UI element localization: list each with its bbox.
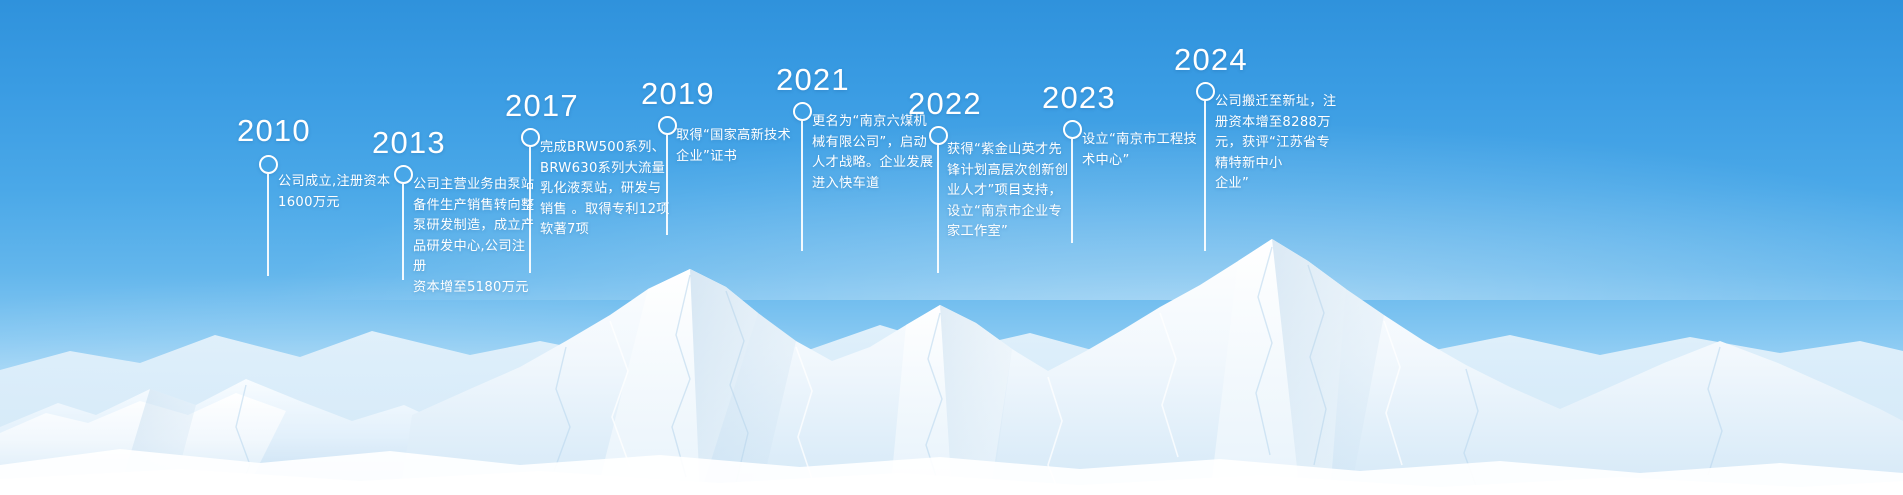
milestone-description-2022: 获得“紫金山英才先 锋计划高层次创新创 业人才”项目支持， 设立“南京市企业专 … [947, 140, 1079, 243]
milestone-dot-2017[interactable] [521, 128, 540, 147]
milestone-year-2022: 2022 [908, 88, 982, 119]
milestone-year-2013: 2013 [372, 127, 446, 158]
timeline-track: 2010 公司成立,注册资本 1600万元 2013 公司主营业务由泵站 备件生… [0, 0, 1903, 495]
milestone-dot-2013[interactable] [394, 165, 413, 184]
milestone-dot-2021[interactable] [793, 102, 812, 121]
milestone-description-2021: 更名为“南京六煤机 械有限公司”，启动 人才战略。企业发展 进入快车道 [812, 112, 944, 194]
milestone-dot-2024[interactable] [1196, 82, 1215, 101]
milestone-dot-2023[interactable] [1063, 120, 1082, 139]
milestone-description-2013: 公司主营业务由泵站 备件生产销售转向整 泵研发制造，成立产 品研发中心,公司注册… [413, 175, 537, 298]
milestone-year-2024: 2024 [1174, 44, 1248, 75]
milestone-stem-2019 [666, 135, 668, 235]
milestone-description-2024: 公司搬迁至新址，注 册资本增至8288万 元，获评“江苏省专 精特新中小 企业” [1215, 92, 1343, 195]
milestone-stem-2021 [801, 121, 803, 251]
milestone-stem-2017 [529, 147, 531, 273]
milestone-year-2023: 2023 [1042, 82, 1116, 113]
milestone-year-2017: 2017 [505, 90, 579, 121]
milestone-year-2021: 2021 [776, 64, 850, 95]
milestone-stem-2010 [267, 174, 269, 276]
milestone-year-2019: 2019 [641, 78, 715, 109]
milestone-description-2019: 取得“国家高新技术 企业”证书 [676, 126, 804, 167]
milestone-dot-2019[interactable] [658, 116, 677, 135]
milestone-dot-2010[interactable] [259, 155, 278, 174]
milestone-description-2023: 设立“南京市工程技 术中心” [1082, 130, 1208, 171]
milestone-stem-2022 [937, 145, 939, 273]
milestone-dot-2022[interactable] [929, 126, 948, 145]
milestone-stem-2023 [1071, 139, 1073, 243]
milestone-year-2010: 2010 [237, 115, 311, 146]
timeline-graphic: 2010 公司成立,注册资本 1600万元 2013 公司主营业务由泵站 备件生… [0, 0, 1903, 495]
milestone-stem-2024 [1204, 101, 1206, 251]
milestone-stem-2013 [402, 184, 404, 280]
milestone-description-2017: 完成BRW500系列、 BRW630系列大流量 乳化液泵站，研发与 销售 。取得… [540, 138, 672, 241]
